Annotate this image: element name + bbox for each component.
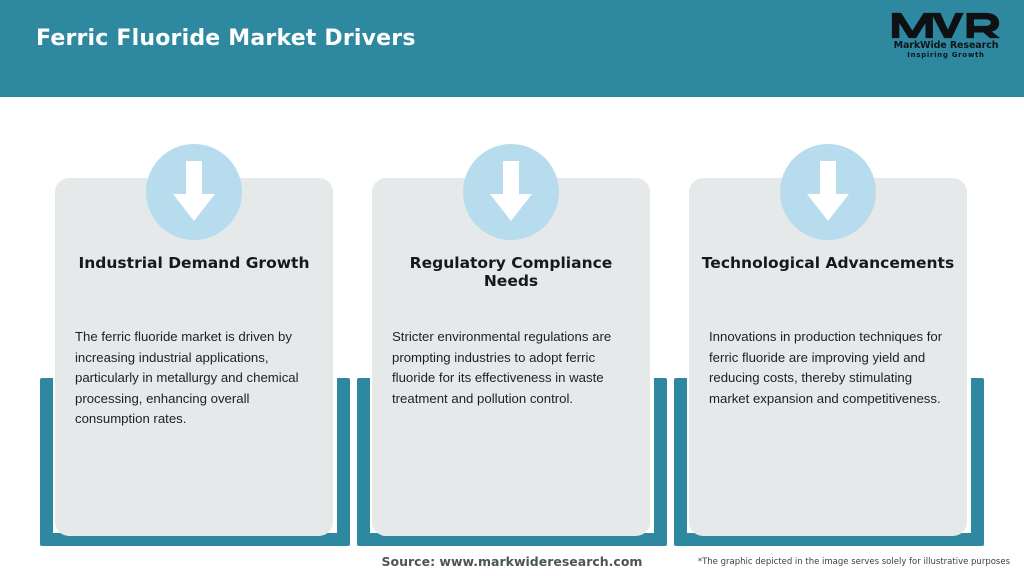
icon-circle: [146, 144, 242, 240]
card-body: Innovations in production techniques for…: [709, 327, 953, 409]
driver-group: Regulatory Compliance Needs Stricter env…: [345, 0, 675, 576]
card-title: Regulatory Compliance Needs: [382, 254, 640, 290]
driver-group: Industrial Demand Growth The ferric fluo…: [28, 0, 358, 576]
driver-group: Technological Advancements Innovations i…: [662, 0, 992, 576]
card-body: Stricter environmental regulations are p…: [392, 327, 636, 409]
arrow-down-icon: [806, 161, 850, 223]
card-body: The ferric fluoride market is driven by …: [75, 327, 319, 430]
disclaimer-note: *The graphic depicted in the image serve…: [698, 557, 1010, 567]
arrow-down-icon: [489, 161, 533, 223]
card-title: Industrial Demand Growth: [65, 254, 323, 272]
card-title: Technological Advancements: [699, 254, 957, 272]
icon-circle: [780, 144, 876, 240]
arrow-down-icon: [172, 161, 216, 223]
icon-circle: [463, 144, 559, 240]
